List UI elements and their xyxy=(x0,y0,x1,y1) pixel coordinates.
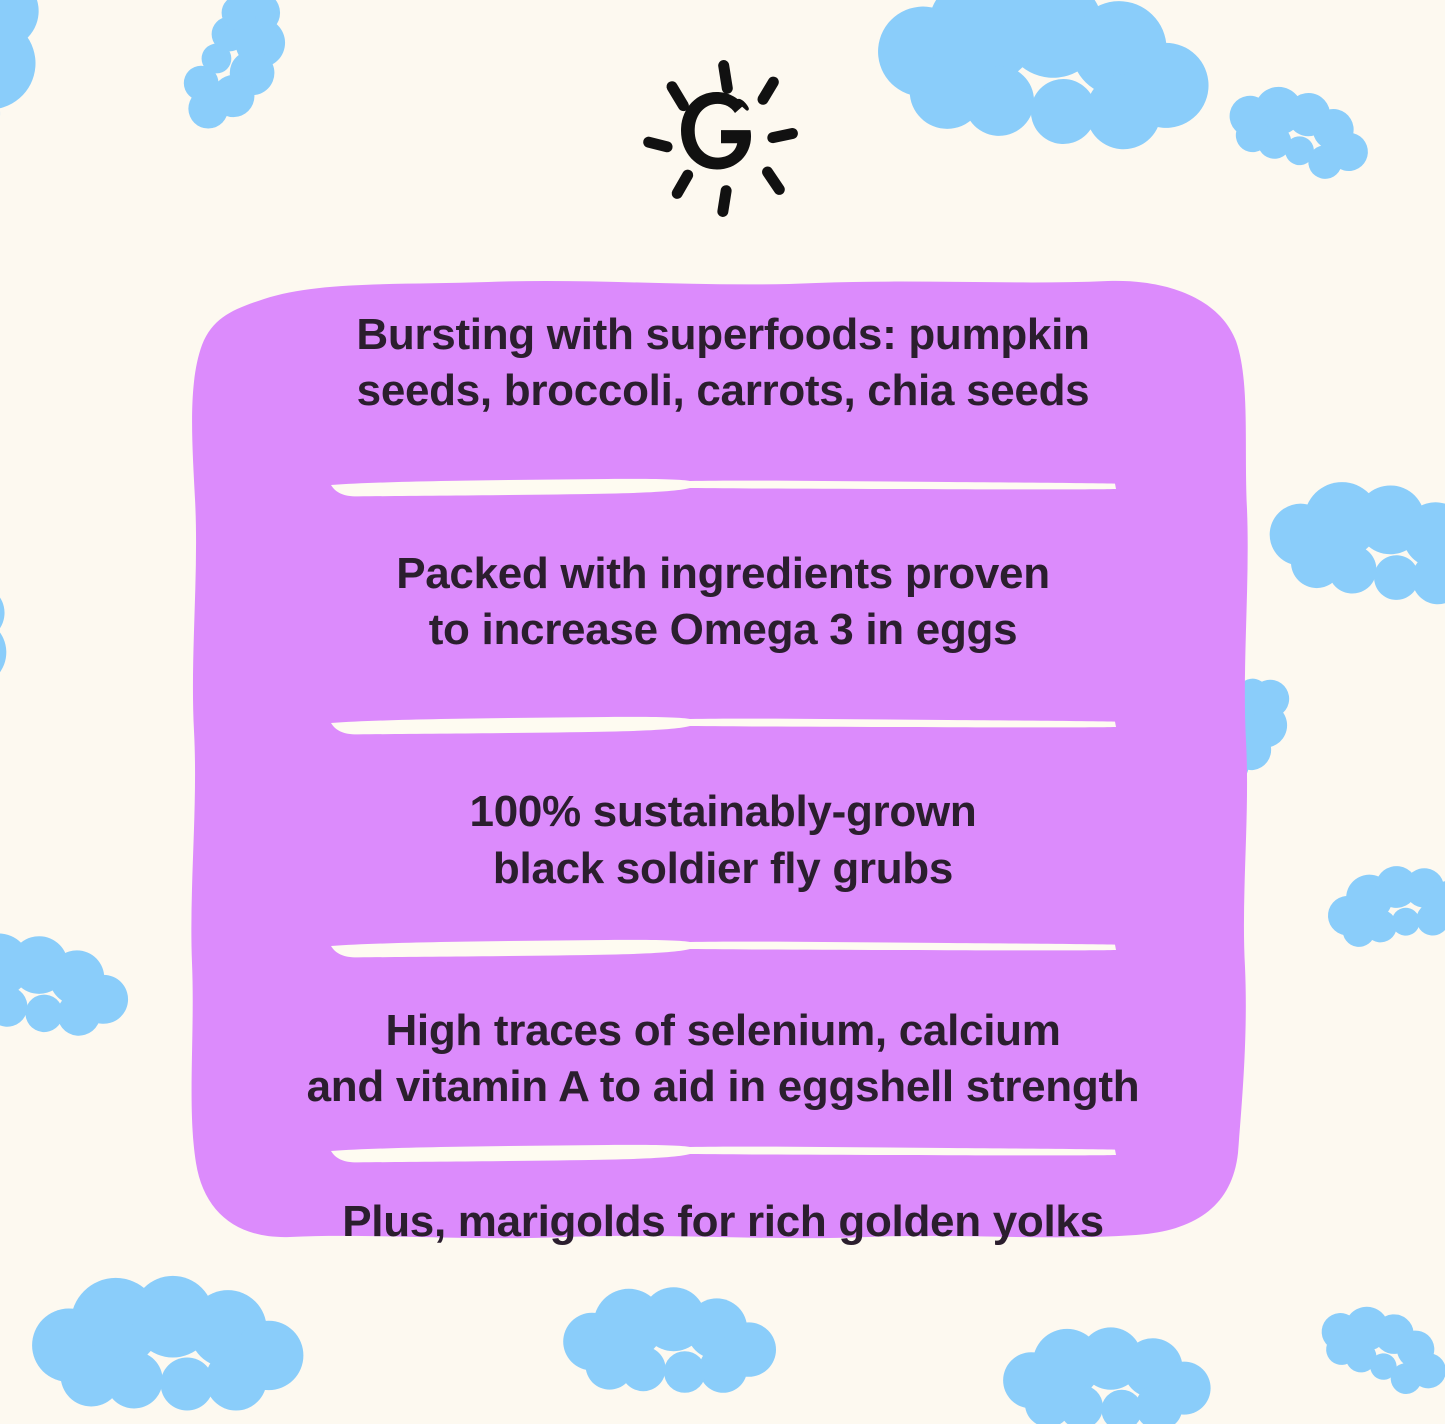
benefit-item-superfoods: Bursting with superfoods: pumpkin seeds,… xyxy=(168,307,1278,420)
brush-divider-icon xyxy=(328,1142,1118,1168)
divider-4 xyxy=(168,1142,1278,1168)
logo-ray-n xyxy=(717,59,733,94)
logo-ray-ne xyxy=(755,75,780,107)
benefit-item-black-soldier-fly: 100% sustainably-grown black soldier fly… xyxy=(168,784,1278,897)
benefit-item-omega-3: Packed with ingredients proven to increa… xyxy=(168,546,1278,659)
cloud-top-right xyxy=(871,0,1217,156)
cloud-bottom-left xyxy=(32,1276,303,1411)
cloud-mid-left-lower xyxy=(0,926,134,1041)
benefit-item-eggshell-strength: High traces of selenium, calcium and vit… xyxy=(168,1003,1278,1116)
benefit-text-omega-3: Packed with ingredients proven to increa… xyxy=(168,546,1278,659)
sun-g-logo xyxy=(639,58,811,222)
cloud-top-left xyxy=(0,0,80,245)
benefit-text-black-soldier-fly: 100% sustainably-grown black soldier fly… xyxy=(168,784,1278,897)
cloud-bottom-center xyxy=(563,1287,776,1393)
cloud-bottom-right xyxy=(1003,1327,1210,1424)
divider-1 xyxy=(168,476,1278,502)
logo-ray-e xyxy=(766,127,799,144)
logo-ray-se xyxy=(760,164,787,197)
cloud-bottom-far-right xyxy=(1310,1294,1445,1405)
logo-ray-w xyxy=(642,136,674,154)
cloud-mid-right-upper xyxy=(1264,473,1445,610)
logo-ray-nw xyxy=(664,79,690,113)
logo-rays-group xyxy=(642,59,799,217)
logo-ray-sw xyxy=(670,168,696,201)
divider-2 xyxy=(168,714,1278,740)
logo-ray-s xyxy=(717,184,733,217)
benefit-item-marigolds: Plus, marigolds for rich golden yolks xyxy=(168,1194,1278,1250)
brush-divider-icon xyxy=(328,937,1118,963)
benefits-list: Bursting with superfoods: pumpkin seeds,… xyxy=(168,255,1278,1265)
cloud-top-center-left xyxy=(170,0,303,146)
logo-letter-g xyxy=(681,92,751,170)
cloud-mid-left-upper xyxy=(0,563,36,794)
divider-3 xyxy=(168,937,1278,963)
cloud-mid-right-lower xyxy=(1319,850,1445,961)
brush-divider-icon xyxy=(328,476,1118,502)
poster-canvas: Bursting with superfoods: pumpkin seeds,… xyxy=(0,0,1445,1424)
benefit-text-superfoods: Bursting with superfoods: pumpkin seeds,… xyxy=(168,307,1278,420)
benefit-text-eggshell-strength: High traces of selenium, calcium and vit… xyxy=(168,1003,1278,1116)
brush-divider-icon xyxy=(328,714,1118,740)
benefit-text-marigolds: Plus, marigolds for rich golden yolks xyxy=(168,1194,1278,1250)
benefits-panel: Bursting with superfoods: pumpkin seeds,… xyxy=(168,255,1278,1265)
cloud-top-far-right xyxy=(1220,75,1379,188)
